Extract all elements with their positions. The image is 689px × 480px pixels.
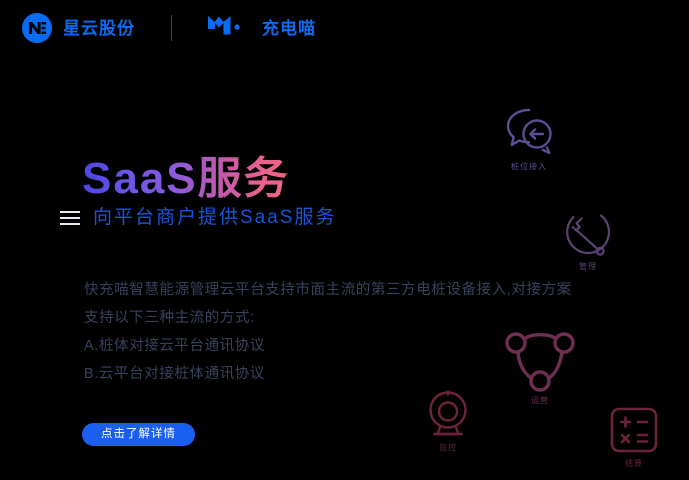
header-divider (171, 15, 172, 41)
ne-circle-logo-icon (22, 13, 52, 43)
decor-chat-access: 桩位接入 (498, 102, 560, 171)
decor-management: 管理 (563, 208, 613, 271)
page-subtitle: 向平台商户提供SaaS服务 (93, 208, 336, 227)
decor-operations-label: 运营 (531, 397, 549, 405)
body-list-item-b: B.云平台对接桩体通讯协议 (84, 360, 584, 388)
page-title: SaaS服务 (82, 155, 290, 203)
subtitle-row: 向平台商户提供SaaS服务 (60, 208, 336, 227)
brand-primary[interactable]: 星云股份 (22, 13, 135, 43)
gauge-meter-icon (425, 389, 471, 439)
learn-more-button[interactable]: 点击了解详情 (82, 423, 195, 446)
decor-settlement: 结算 (608, 405, 660, 468)
page-header: 星云股份 充电喵 (0, 0, 689, 56)
chat-bubble-arrow-icon (498, 102, 560, 158)
calculator-icon (608, 405, 660, 455)
wrench-tool-icon (563, 208, 613, 258)
decor-monitoring: 监控 (425, 389, 471, 452)
hamburger-menu-icon[interactable] (60, 211, 80, 225)
decor-management-label: 管理 (579, 263, 597, 271)
decor-monitoring-label: 监控 (439, 444, 457, 452)
decor-settlement-label: 结算 (625, 460, 643, 468)
body-copy: 快充喵智慧能源管理云平台支持市面主流的第三方电桩设备接入,对接方案支持以下三种主… (84, 276, 584, 388)
cat-mark-logo-icon (206, 12, 254, 45)
brand-secondary-name: 充电喵 (262, 20, 316, 37)
decor-chat-label: 桩位接入 (511, 163, 547, 171)
body-paragraph: 快充喵智慧能源管理云平台支持市面主流的第三方电桩设备接入,对接方案支持以下三种主… (84, 276, 584, 332)
brand-secondary[interactable]: 充电喵 (206, 12, 316, 45)
body-list-item-a: A.桩体对接云平台通讯协议 (84, 332, 584, 360)
brand-primary-name: 星云股份 (63, 20, 135, 37)
